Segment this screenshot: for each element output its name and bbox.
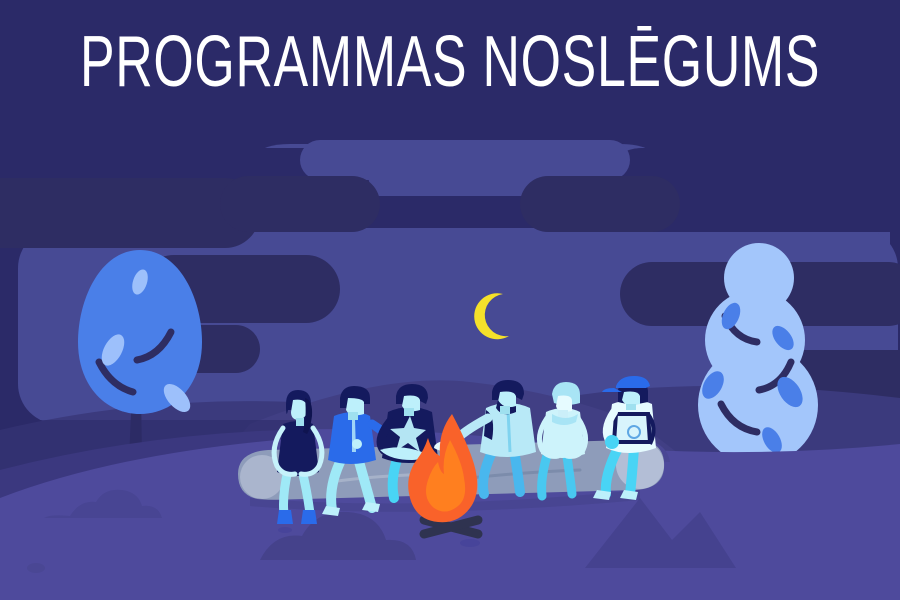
person1-neck [296,418,304,426]
cloud-notch-top-notch-left [220,176,380,232]
person5-face [556,396,572,412]
cloud-notch-mid-left [0,178,260,248]
person3-leg-left [393,456,398,498]
cloud-notch-top-notch-right [520,176,680,232]
cloud-notch-lobe-e [300,140,630,180]
person4-jacket-zip [508,410,510,452]
person2-neck [348,412,358,420]
pebble-small-left [278,527,292,533]
person6-leg-right [630,448,634,494]
person6-hand [605,435,619,449]
pebble-mid [460,539,480,547]
person1-leg-left [284,470,289,514]
poster-canvas: PROGRAMMAS NOSLĒGUMS [0,0,900,600]
scene-illustration [0,0,900,600]
person6-neck [626,404,636,410]
person4-neck [500,406,510,414]
person6-face [622,392,640,406]
person3-neck [404,408,414,416]
person5-neck [558,410,568,418]
pebble-bottom-left [27,563,45,573]
person1-boot-left [277,510,293,524]
person2-hoodie-tassel [352,439,362,449]
person1-boot-right [301,510,317,524]
